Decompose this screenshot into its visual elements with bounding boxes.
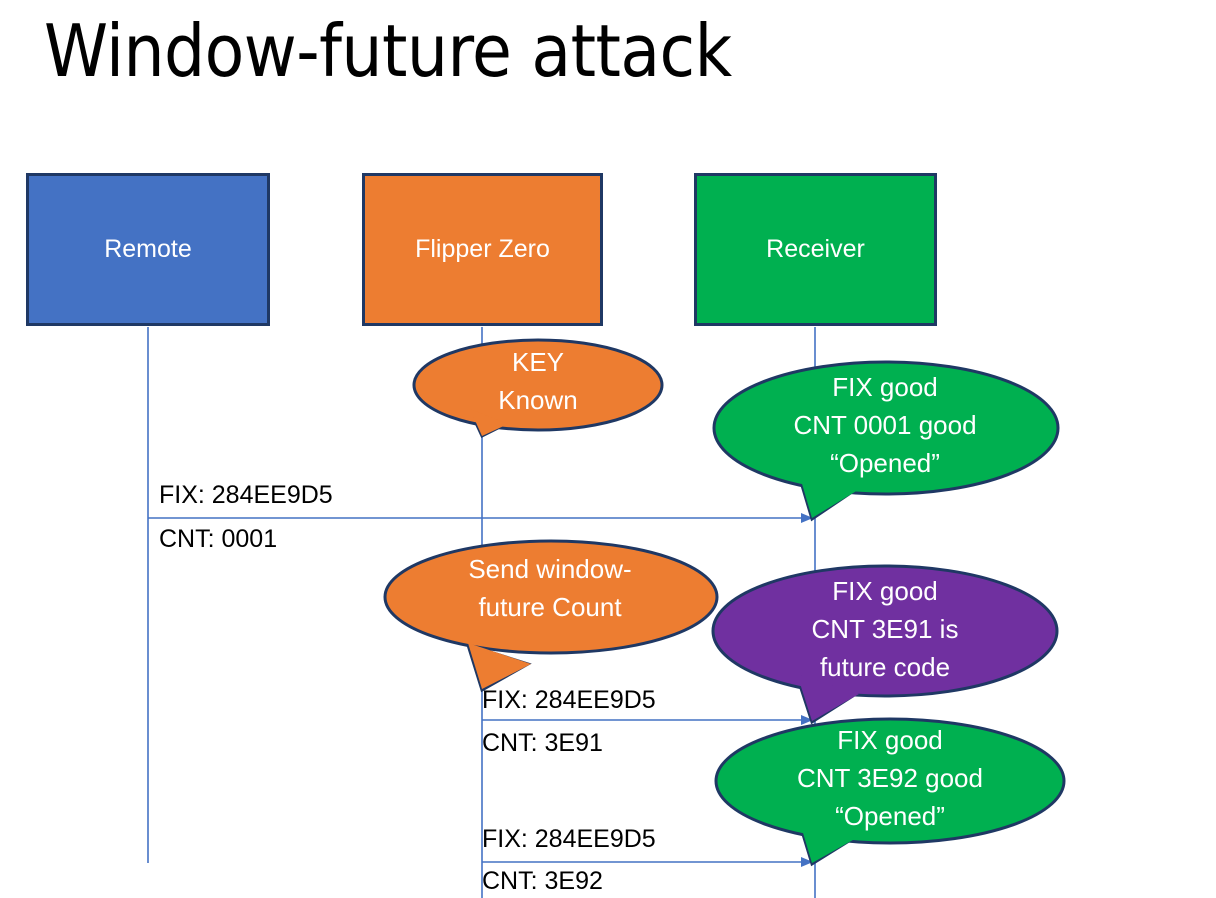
message-3-cnt-label: CNT: 3E92 — [482, 866, 603, 896]
diagram-svg — [0, 0, 1216, 898]
actor-box-flipper-zero[interactable]: Flipper Zero — [362, 173, 603, 326]
actor-box-receiver[interactable]: Receiver — [694, 173, 937, 326]
message-1-cnt-label: CNT: 0001 — [159, 524, 277, 554]
callout-fix-good-3e91 — [713, 566, 1057, 722]
actor-label-flipper-zero: Flipper Zero — [415, 235, 550, 264]
callout-key-known — [414, 340, 662, 436]
actor-box-remote[interactable]: Remote — [26, 173, 270, 326]
message-2-cnt-label: CNT: 3E91 — [482, 728, 603, 758]
actor-label-remote: Remote — [104, 235, 192, 264]
callout-fix-good-0001 — [714, 362, 1058, 519]
callout-send-window-future — [385, 541, 717, 690]
slide-canvas: Window-future attack — [0, 0, 1216, 898]
message-1-fix-label: FIX: 284EE9D5 — [159, 480, 333, 510]
callout-fix-good-3e92 — [716, 719, 1064, 864]
message-3-fix-label: FIX: 284EE9D5 — [482, 824, 656, 854]
message-2-fix-label: FIX: 284EE9D5 — [482, 685, 656, 715]
actor-label-receiver: Receiver — [766, 235, 865, 264]
